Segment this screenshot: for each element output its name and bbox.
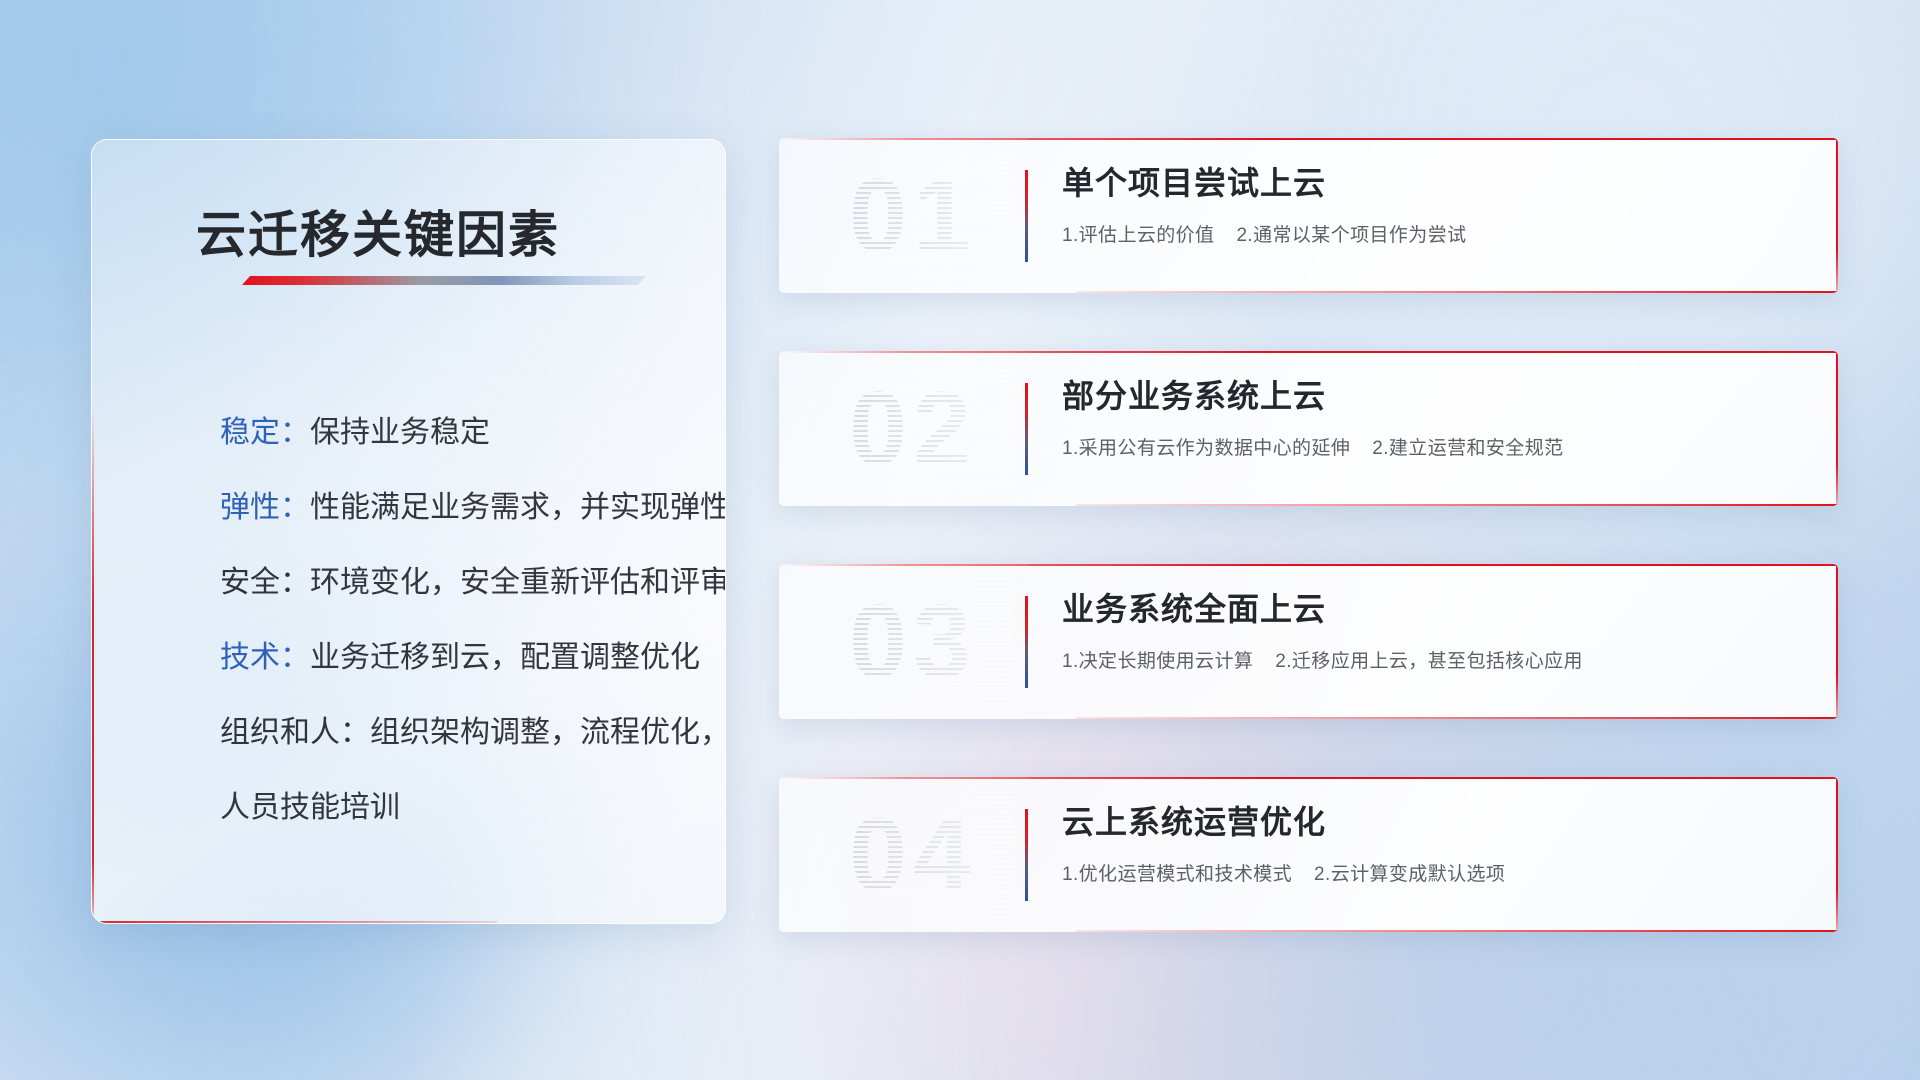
step-subtitle: 1.决定长期使用云计算2.迁移应用上云，甚至包括核心应用 bbox=[1062, 646, 1802, 673]
factor-value: 人员技能培训 bbox=[220, 791, 400, 824]
step-title: 部分业务系统上云 bbox=[1062, 377, 1802, 415]
step-point-1: 1.决定长期使用云计算 bbox=[1062, 651, 1253, 672]
step-card-03[interactable]: 03 业务系统全面上云 1.决定长期使用云计算2.迁移应用上云，甚至包括核心应用 bbox=[779, 564, 1838, 719]
step-divider-bar bbox=[1025, 596, 1028, 688]
step-point-1: 1.优化运营模式和技术模式 bbox=[1062, 864, 1292, 885]
card-right-accent bbox=[1836, 777, 1838, 932]
factor-value: 业务迁移到云，配置调整优化 bbox=[310, 641, 700, 674]
step-number-01: 01 bbox=[813, 152, 1013, 280]
step-subtitle: 1.评估上云的价值2.通常以某个项目作为尝试 bbox=[1062, 220, 1802, 247]
migration-steps-list: 01 单个项目尝试上云 1.评估上云的价值2.通常以某个项目作为尝试 02 部分… bbox=[779, 138, 1838, 932]
factor-key: 组织和人： bbox=[220, 716, 370, 749]
factor-value: 保持业务稳定 bbox=[310, 416, 490, 449]
card-right-accent bbox=[1836, 351, 1838, 506]
step-point-2: 2.通常以某个项目作为尝试 bbox=[1236, 225, 1466, 246]
factor-list: 稳定：保持业务稳定 弹性：性能满足业务需求，并实现弹性 安全：环境变化，安全重新… bbox=[220, 418, 683, 823]
panel-bottom-accent-line bbox=[92, 921, 497, 923]
step-text-block: 单个项目尝试上云 1.评估上云的价值2.通常以某个项目作为尝试 bbox=[1062, 164, 1802, 247]
step-text-block: 云上系统运营优化 1.优化运营模式和技术模式2.云计算变成默认选项 bbox=[1062, 803, 1802, 886]
factor-item-elasticity: 弹性：性能满足业务需求，并实现弹性 bbox=[220, 493, 683, 523]
title-underline-gradient bbox=[242, 276, 646, 285]
step-card-01[interactable]: 01 单个项目尝试上云 1.评估上云的价值2.通常以某个项目作为尝试 bbox=[779, 138, 1838, 293]
page-title: 云迁移关键因素 bbox=[196, 195, 560, 267]
step-point-2: 2.云计算变成默认选项 bbox=[1314, 864, 1505, 885]
factor-item-stability: 稳定：保持业务稳定 bbox=[220, 418, 683, 448]
step-number-03: 03 bbox=[813, 578, 1013, 706]
step-point-2: 2.迁移应用上云，甚至包括核心应用 bbox=[1275, 651, 1583, 672]
panel-left-accent-line bbox=[92, 406, 94, 923]
step-divider-bar bbox=[1025, 383, 1028, 475]
step-title: 业务系统全面上云 bbox=[1062, 590, 1802, 628]
step-subtitle: 1.优化运营模式和技术模式2.云计算变成默认选项 bbox=[1062, 859, 1802, 886]
step-text-block: 部分业务系统上云 1.采用公有云作为数据中心的延伸2.建立运营和安全规范 bbox=[1062, 377, 1802, 460]
step-point-1: 1.采用公有云作为数据中心的延伸 bbox=[1062, 438, 1350, 459]
step-point-2: 2.建立运营和安全规范 bbox=[1372, 438, 1563, 459]
card-right-accent bbox=[1836, 564, 1838, 719]
factor-value: 环境变化，安全重新评估和评审 bbox=[310, 566, 726, 599]
card-bottom-accent bbox=[1076, 504, 1838, 506]
step-number-04: 04 bbox=[813, 791, 1013, 919]
factor-value: 性能满足业务需求，并实现弹性 bbox=[310, 491, 726, 524]
step-title: 单个项目尝试上云 bbox=[1062, 164, 1802, 202]
card-right-accent bbox=[1836, 138, 1838, 293]
factor-item-security: 安全：环境变化，安全重新评估和评审 bbox=[220, 568, 683, 598]
step-point-1: 1.评估上云的价值 bbox=[1062, 225, 1214, 246]
key-factors-panel: 云迁移关键因素 稳定：保持业务稳定 弹性：性能满足业务需求，并实现弹性 安全：环… bbox=[91, 139, 726, 924]
factor-item-technology: 技术：业务迁移到云，配置调整优化 bbox=[220, 643, 683, 673]
factor-item-organization: 组织和人：组织架构调整，流程优化， bbox=[220, 718, 683, 748]
step-subtitle: 1.采用公有云作为数据中心的延伸2.建立运营和安全规范 bbox=[1062, 433, 1802, 460]
card-bottom-accent bbox=[1076, 930, 1838, 932]
step-card-02[interactable]: 02 部分业务系统上云 1.采用公有云作为数据中心的延伸2.建立运营和安全规范 bbox=[779, 351, 1838, 506]
step-number-02: 02 bbox=[813, 365, 1013, 493]
step-divider-bar bbox=[1025, 809, 1028, 901]
step-text-block: 业务系统全面上云 1.决定长期使用云计算2.迁移应用上云，甚至包括核心应用 bbox=[1062, 590, 1802, 673]
factor-item-organization-line2: 人员技能培训 bbox=[220, 793, 683, 823]
card-bottom-accent bbox=[1076, 717, 1838, 719]
factor-value: 组织架构调整，流程优化， bbox=[370, 716, 726, 749]
step-title: 云上系统运营优化 bbox=[1062, 803, 1802, 841]
factor-key: 技术： bbox=[220, 641, 310, 674]
factor-key: 安全： bbox=[220, 566, 310, 599]
card-bottom-accent bbox=[1076, 291, 1838, 293]
factor-key: 弹性： bbox=[220, 491, 310, 524]
step-divider-bar bbox=[1025, 170, 1028, 262]
factor-key: 稳定： bbox=[220, 416, 310, 449]
step-card-04[interactable]: 04 云上系统运营优化 1.优化运营模式和技术模式2.云计算变成默认选项 bbox=[779, 777, 1838, 932]
